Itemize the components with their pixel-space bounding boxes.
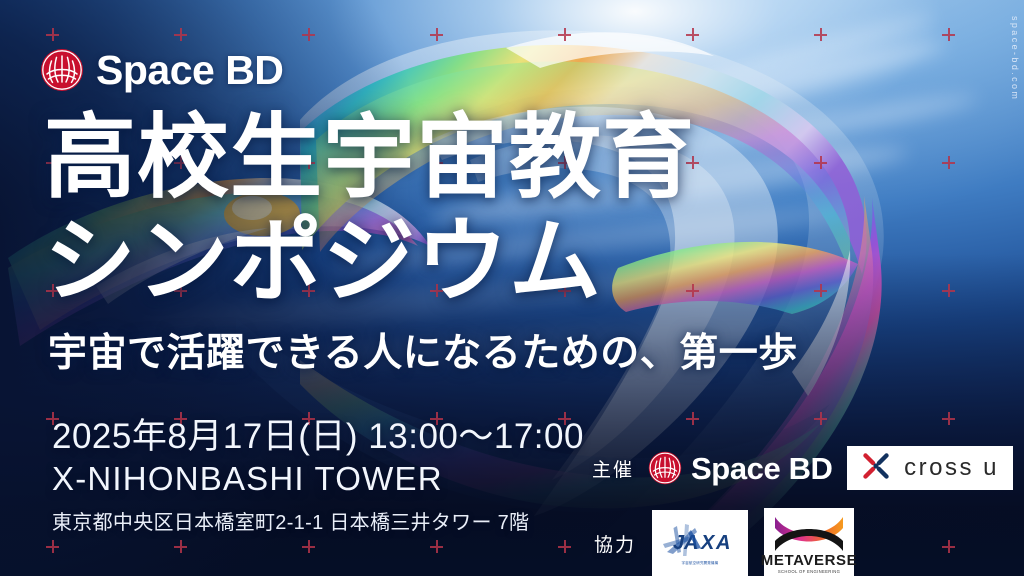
event-venue: X-NIHONBASHI TOWER xyxy=(52,460,443,498)
host-label: 主催 xyxy=(592,455,634,482)
site-url-watermark: space-bd.com xyxy=(1010,16,1020,101)
metaverse-arc-icon: METAVERSE SCHOOL OF ENGINEERING xyxy=(761,513,858,574)
brand-logo: Space BD xyxy=(40,48,283,92)
host-logo-crossu: cross u xyxy=(847,446,1013,490)
metaverse-wordmark: METAVERSE xyxy=(761,553,858,568)
cooperation-label: 協力 xyxy=(594,530,636,557)
jaxa-logo-icon: J A X A 宇宙航空研究開発機構 xyxy=(661,522,739,565)
svg-text:A: A xyxy=(715,532,730,554)
host-wordmark-spacebd: Space BD xyxy=(691,453,833,484)
title-line-1: 高校生宇宙教育 xyxy=(44,112,695,204)
spacebd-circle-emblem-icon xyxy=(40,48,84,92)
title-line-2: シンポジウム xyxy=(44,216,695,308)
subtitle: 宇宙で活躍できる人になるための、第一歩 xyxy=(48,322,798,378)
coop-logo-metaverse: METAVERSE SCHOOL OF ENGINEERING xyxy=(764,508,854,576)
metaverse-sublabel: SCHOOL OF ENGINEERING xyxy=(778,569,840,574)
svg-text:X: X xyxy=(700,532,716,554)
jaxa-sublabel: 宇宙航空研究開発機構 xyxy=(682,559,719,564)
coop-logo-jaxa: J A X A 宇宙航空研究開発機構 xyxy=(652,510,748,576)
main-title: 高校生宇宙教育 シンポジウム xyxy=(44,112,695,308)
brand-wordmark: Space BD xyxy=(96,50,283,91)
event-datetime: 2025年8月17日(日) 13:00〜17:00 xyxy=(52,408,584,459)
event-poster: Space BD 高校生宇宙教育 シンポジウム 宇宙で活躍できる人になるための、… xyxy=(0,0,1024,576)
spacebd-circle-emblem-icon xyxy=(648,451,682,485)
host-logo-spacebd: Space BD xyxy=(648,451,833,485)
event-address: 東京都中央区日本橋室町2-1-1 日本橋三井タワー 7階 xyxy=(52,506,529,535)
cooperation-sponsor-row: 協力 J A X A xyxy=(594,508,854,576)
crossu-wordmark: cross u xyxy=(904,456,999,480)
crossu-x-icon xyxy=(860,450,892,487)
host-sponsor-row: 主催 Space BD xyxy=(592,446,1013,490)
